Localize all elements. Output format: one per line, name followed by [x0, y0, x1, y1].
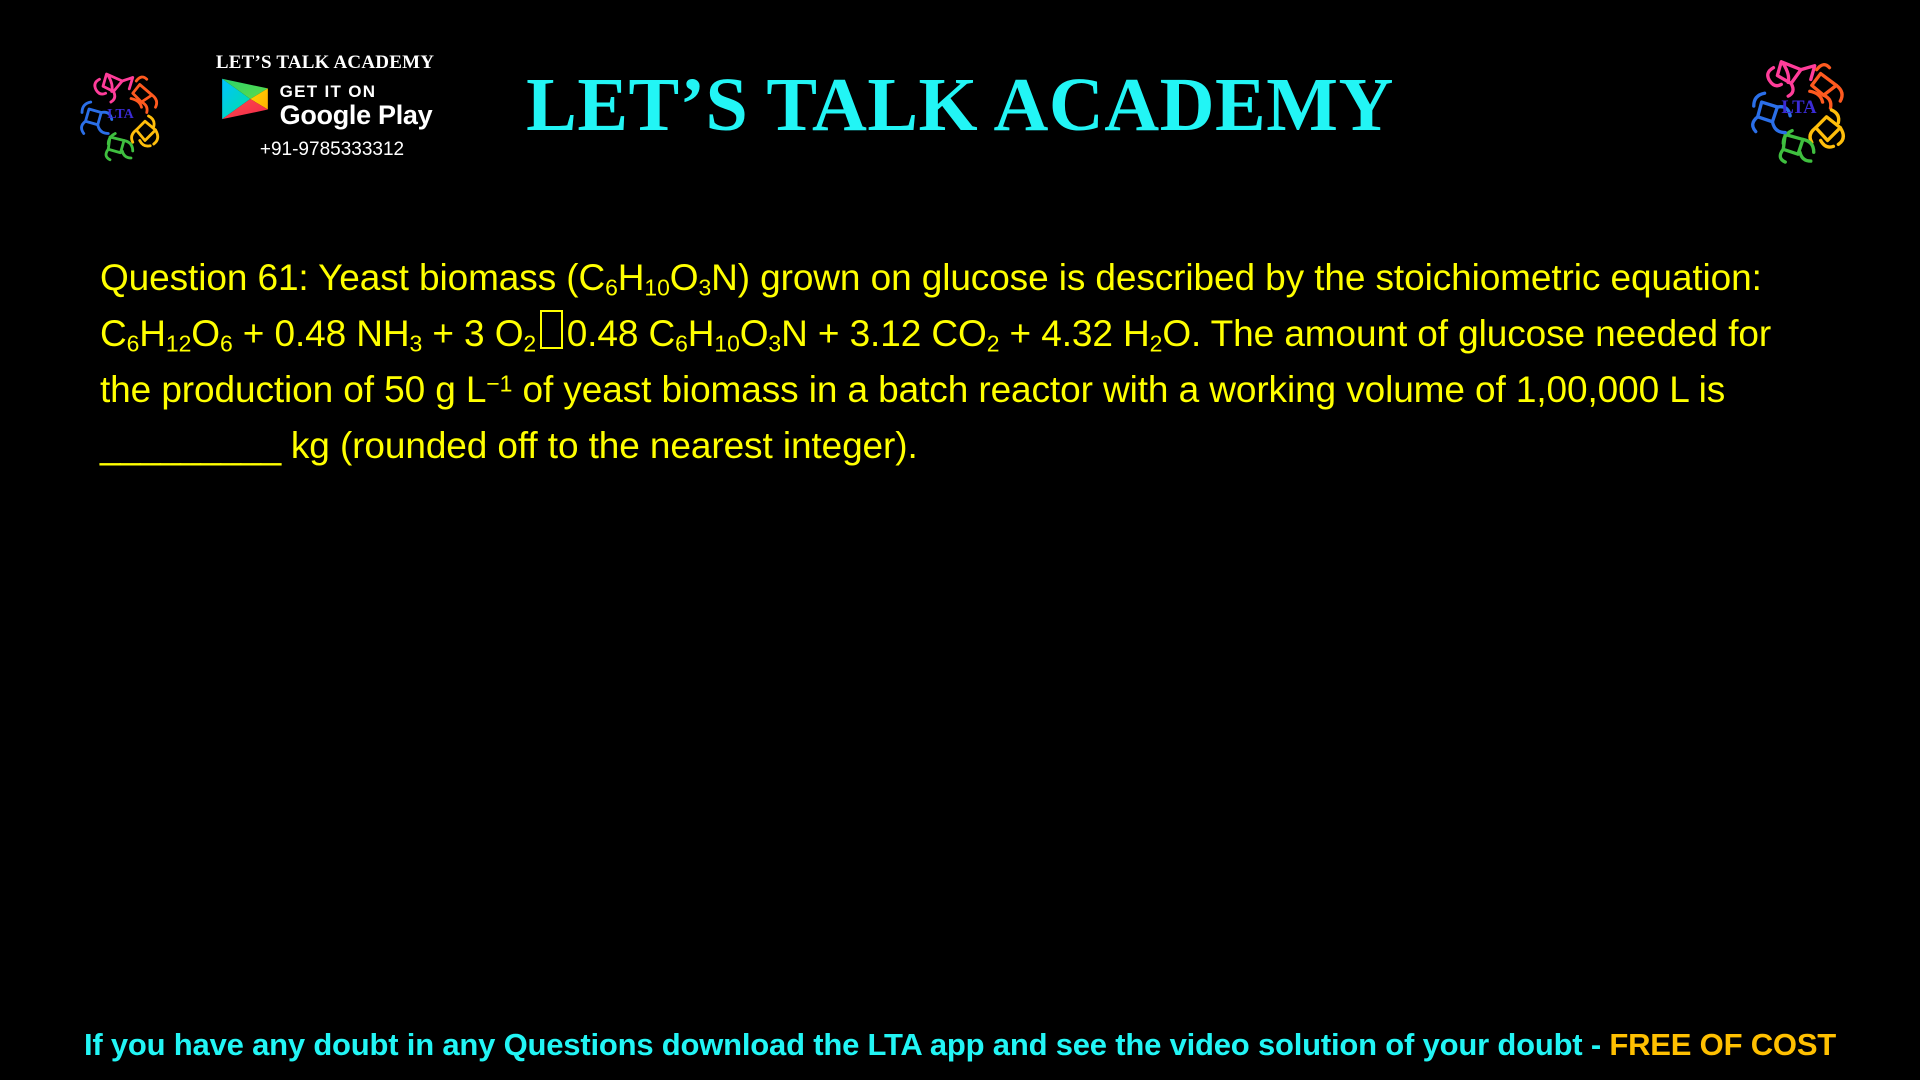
question-text-run: O [670, 257, 699, 298]
footer-highlight-text: FREE OF COST [1609, 1027, 1836, 1062]
lta-logo-icon-right: LTA [1740, 48, 1858, 166]
page-header: LTA LET’S TALK ACADEMY [0, 0, 1920, 190]
question-text-run: O [191, 313, 220, 354]
chem-subscript: 3 [768, 331, 781, 357]
chem-subscript: 3 [410, 331, 423, 357]
chem-subscript: 6 [605, 275, 618, 301]
chem-subscript: 12 [166, 331, 191, 357]
chem-subscript: 6 [220, 331, 233, 357]
chem-subscript: 6 [675, 331, 688, 357]
question-text-run: of yeast biomass in a batch reactor with… [512, 369, 1725, 410]
question-text-run: N + 3.12 CO [781, 313, 987, 354]
question-text-run: 0.48 C [567, 313, 675, 354]
question-text-run: + 0.48 NH [233, 313, 410, 354]
question-text-run: + 4.32 H [999, 313, 1149, 354]
chem-subscript: 10 [644, 275, 669, 301]
question-text-run: H [688, 313, 715, 354]
page-title: LET’S TALK ACADEMY [0, 62, 1920, 148]
chem-subscript: 2 [987, 331, 1000, 357]
footer-banner: If you have any doubt in any Questions d… [0, 1026, 1920, 1064]
missing-glyph-box-icon [540, 310, 563, 349]
exponent: −1 [486, 371, 512, 397]
question-text-run: Question 61: Yeast biomass (C [100, 257, 605, 298]
chem-subscript: 2 [523, 331, 536, 357]
answer-blank: _________ [100, 425, 281, 466]
chem-subscript: 10 [714, 331, 739, 357]
svg-text:LTA: LTA [1781, 97, 1817, 118]
chem-subscript: 3 [698, 275, 711, 301]
question-text-run: kg (rounded off to the nearest integer). [281, 425, 918, 466]
question-text-run: O [740, 313, 769, 354]
question-text: Question 61: Yeast biomass (C6H10O3N) gr… [100, 250, 1830, 474]
chem-subscript: 2 [1150, 331, 1163, 357]
question-text-run: + 3 O [422, 313, 523, 354]
question-text-run: H [139, 313, 166, 354]
chem-subscript: 6 [127, 331, 140, 357]
footer-main-text: If you have any doubt in any Questions d… [84, 1027, 1609, 1062]
question-text-run: H [618, 257, 645, 298]
